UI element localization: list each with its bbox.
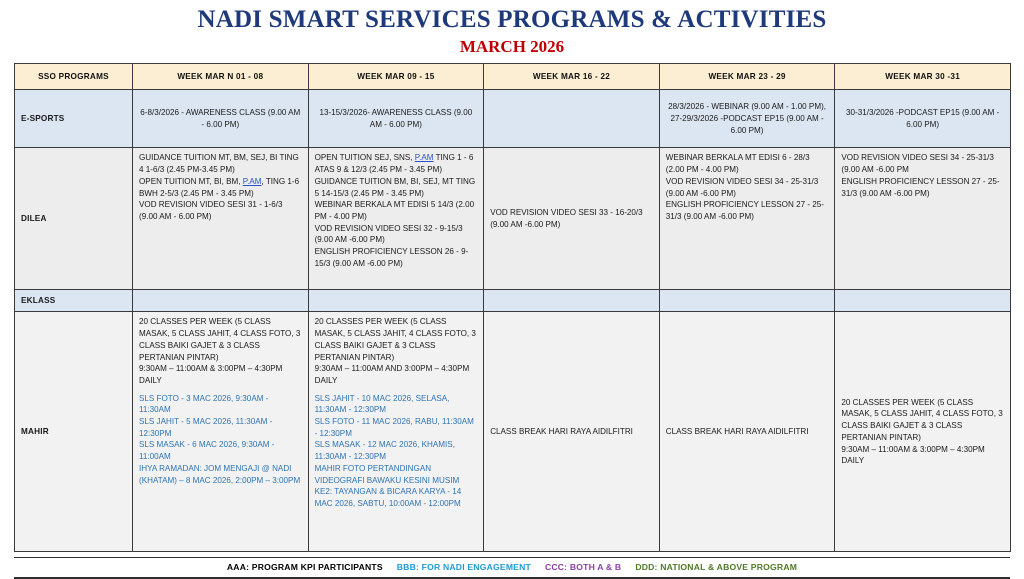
column-header-sso-programs: SSO PROGRAMS xyxy=(15,64,133,90)
row-label-eklass: EKLASS xyxy=(15,290,133,312)
header-row: SSO PROGRAMS WEEK MAR N 01 - 08 WEEK MAR… xyxy=(15,64,1011,90)
schedule-page: NADI SMART SERVICES PROGRAMS & ACTIVITIE… xyxy=(0,0,1024,576)
row-label-dilea: DILEA xyxy=(15,148,133,290)
legend-item-d: DDD: NATIONAL & ABOVE PROGRAM xyxy=(635,562,797,572)
column-header-week-4: WEEK MAR 23 - 29 xyxy=(659,64,835,90)
cell-eklass-week-2 xyxy=(308,290,484,312)
cell-e-sports-week-5: 30-31/3/2026 -PODCAST EP15 (9.00 AM - 6.… xyxy=(835,90,1011,148)
column-header-week-2: WEEK MAR 09 - 15 xyxy=(308,64,484,90)
table-row: MAHIR20 CLASSES PER WEEK (5 CLASS MASAK,… xyxy=(15,312,1011,552)
cell-eklass-week-5 xyxy=(835,290,1011,312)
schedule-table: SSO PROGRAMS WEEK MAR N 01 - 08 WEEK MAR… xyxy=(14,63,1011,552)
cell-content: 28/3/2026 - WEBINAR (9.00 AM - 1.00 PM),… xyxy=(666,101,829,136)
cell-e-sports-week-1: 6-8/3/2026 - AWARENESS CLASS (9.00 AM - … xyxy=(133,90,309,148)
cell-content: CLASS BREAK HARI RAYA AIDILFITRI xyxy=(666,426,829,438)
cell-content: 20 CLASSES PER WEEK (5 CLASS MASAK, 5 CL… xyxy=(315,316,478,510)
inline-link[interactable]: P.AM xyxy=(243,177,262,186)
cell-eklass-week-3 xyxy=(484,290,660,312)
table-header: SSO PROGRAMS WEEK MAR N 01 - 08 WEEK MAR… xyxy=(15,64,1011,90)
cell-eklass-week-4 xyxy=(659,290,835,312)
row-label-mahir: MAHIR xyxy=(15,312,133,552)
cell-mahir-week-2: 20 CLASSES PER WEEK (5 CLASS MASAK, 5 CL… xyxy=(308,312,484,552)
page-title: NADI SMART SERVICES PROGRAMS & ACTIVITIE… xyxy=(14,6,1010,35)
cell-mahir-week-4: CLASS BREAK HARI RAYA AIDILFITRI xyxy=(659,312,835,552)
cell-content: 20 CLASSES PER WEEK (5 CLASS MASAK, 5 CL… xyxy=(841,397,1004,467)
table-row: E-SPORTS6-8/3/2026 - AWARENESS CLASS (9.… xyxy=(15,90,1011,148)
title-block: NADI SMART SERVICES PROGRAMS & ACTIVITIE… xyxy=(14,0,1010,56)
cell-content: WEBINAR BERKALA MT EDISI 6 - 28/3 (2.00 … xyxy=(666,152,829,222)
cell-dilea-week-1: GUIDANCE TUITION MT, BM, SEJ, BI TING 4 … xyxy=(133,148,309,290)
cell-content: 30-31/3/2026 -PODCAST EP15 (9.00 AM - 6.… xyxy=(841,107,1004,130)
cell-content: 6-8/3/2026 - AWARENESS CLASS (9.00 AM - … xyxy=(139,107,302,130)
table-row: EKLASS xyxy=(15,290,1011,312)
cell-e-sports-week-3 xyxy=(484,90,660,148)
row-label-e-sports: E-SPORTS xyxy=(15,90,133,148)
cell-e-sports-week-4: 28/3/2026 - WEBINAR (9.00 AM - 1.00 PM),… xyxy=(659,90,835,148)
cell-mahir-week-3: CLASS BREAK HARI RAYA AIDILFITRI xyxy=(484,312,660,552)
cell-content: CLASS BREAK HARI RAYA AIDILFITRI xyxy=(490,426,653,438)
page-subtitle: MARCH 2026 xyxy=(14,37,1010,57)
legend-item-a: AAA: PROGRAM KPI PARTICIPANTS xyxy=(227,562,383,572)
column-header-week-5: WEEK MAR 30 -31 xyxy=(835,64,1011,90)
cell-content: VOD REVISION VIDEO SESI 33 - 16-20/3 (9.… xyxy=(490,207,653,230)
column-header-week-3: WEEK MAR 16 - 22 xyxy=(484,64,660,90)
table-body: E-SPORTS6-8/3/2026 - AWARENESS CLASS (9.… xyxy=(15,90,1011,552)
cell-dilea-week-2: OPEN TUITION SEJ, SNS, P.AM TING 1 - 6 A… xyxy=(308,148,484,290)
cell-content: OPEN TUITION SEJ, SNS, P.AM TING 1 - 6 A… xyxy=(315,152,478,269)
cell-mahir-week-1: 20 CLASSES PER WEEK (5 CLASS MASAK, 5 CL… xyxy=(133,312,309,552)
legend-item-b: BBB: FOR NADI ENGAGEMENT xyxy=(397,562,531,572)
cell-content: VOD REVISION VIDEO SESI 34 - 25-31/3 (9.… xyxy=(841,152,1004,199)
cell-content: 20 CLASSES PER WEEK (5 CLASS MASAK, 5 CL… xyxy=(139,316,302,486)
table-row: DILEAGUIDANCE TUITION MT, BM, SEJ, BI TI… xyxy=(15,148,1011,290)
cell-mahir-week-5: 20 CLASSES PER WEEK (5 CLASS MASAK, 5 CL… xyxy=(835,312,1011,552)
cell-dilea-week-5: VOD REVISION VIDEO SESI 34 - 25-31/3 (9.… xyxy=(835,148,1011,290)
cell-content: GUIDANCE TUITION MT, BM, SEJ, BI TING 4 … xyxy=(139,152,302,222)
inline-link[interactable]: P.AM xyxy=(415,153,434,162)
legend-item-c: CCC: BOTH A & B xyxy=(545,562,621,572)
cell-content: 13-15/3/2026- AWARENESS CLASS (9.00 AM -… xyxy=(315,107,478,130)
cell-e-sports-week-2: 13-15/3/2026- AWARENESS CLASS (9.00 AM -… xyxy=(308,90,484,148)
cell-dilea-week-3: VOD REVISION VIDEO SESI 33 - 16-20/3 (9.… xyxy=(484,148,660,290)
cell-eklass-week-1 xyxy=(133,290,309,312)
column-header-week-1: WEEK MAR N 01 - 08 xyxy=(133,64,309,90)
cell-dilea-week-4: WEBINAR BERKALA MT EDISI 6 - 28/3 (2.00 … xyxy=(659,148,835,290)
